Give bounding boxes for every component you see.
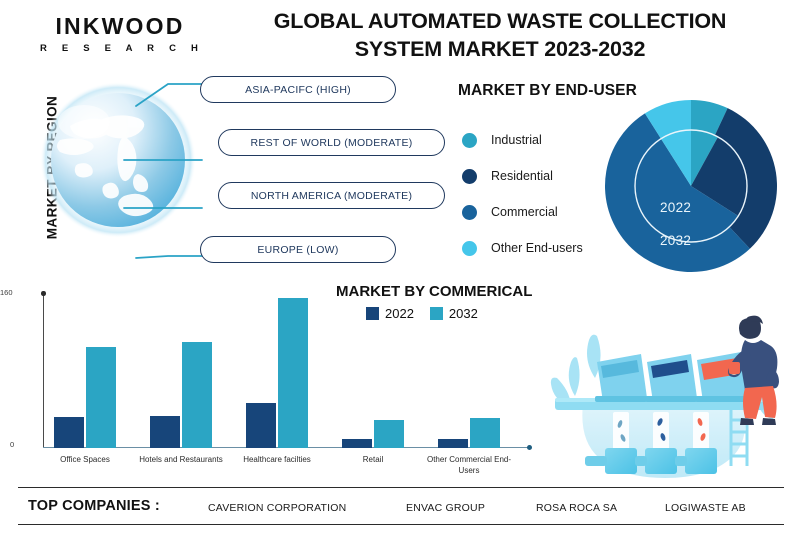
- bar-2022[interactable]: [438, 439, 468, 449]
- region-callout-rest-of-world[interactable]: REST OF WORLD (MODERATE): [218, 129, 445, 156]
- bar-2022[interactable]: [342, 439, 372, 448]
- company-name-1[interactable]: ENVAC GROUP: [406, 502, 485, 514]
- y-axis-cap: [41, 291, 46, 296]
- brand-logo: INKWOOD R E S E A R C H: [30, 14, 210, 54]
- logo-tagline: R E S E A R C H: [34, 43, 210, 54]
- company-name-2[interactable]: ROSA ROCA SA: [536, 502, 617, 514]
- x-axis-label-1: Hotels and Restaurants: [133, 455, 229, 466]
- bar-2022[interactable]: [150, 416, 180, 448]
- bar-2022[interactable]: [246, 403, 276, 448]
- page-title-line1: GLOBAL AUTOMATED WASTE COLLECTION: [215, 8, 785, 36]
- logo-wordmark: INKWOOD: [30, 14, 210, 38]
- bar-group: [246, 298, 308, 448]
- legend-label-commercial: Commercial: [491, 205, 558, 219]
- waste-collection-illustration: [535, 300, 790, 480]
- page-title: GLOBAL AUTOMATED WASTE COLLECTION SYSTEM…: [215, 8, 785, 63]
- page-title-line2: SYSTEM MARKET 2023-2032: [215, 36, 785, 64]
- y-axis-tick-min: 0: [10, 440, 14, 449]
- bar-2032[interactable]: [182, 342, 212, 448]
- bar-2032[interactable]: [470, 418, 500, 448]
- bar-group: [54, 347, 116, 448]
- x-axis-cap: [527, 445, 532, 450]
- y-axis-tick-max: 160: [0, 288, 13, 297]
- legend-item-residential[interactable]: Residential: [462, 158, 583, 194]
- legend-item-commercial[interactable]: Commercial: [462, 194, 583, 230]
- bar-group: [150, 342, 212, 448]
- legend-dot-icon-residential: [462, 169, 477, 184]
- region-callout-list: ASIA-PACIFC (HIGH) REST OF WORLD (MODERA…: [200, 76, 445, 263]
- enduser-section-title: MARKET BY END-USER: [458, 82, 637, 100]
- enduser-donut-chart[interactable]: 2022 2032: [605, 100, 785, 272]
- legend-label-industrial: Industrial: [491, 133, 542, 147]
- bar-group: [438, 418, 500, 448]
- region-callout-north-america[interactable]: NORTH AMERICA (MODERATE): [218, 182, 445, 209]
- legend-dot-icon-commercial: [462, 205, 477, 220]
- footer-divider-top: [18, 487, 784, 488]
- bar-2032[interactable]: [374, 420, 404, 449]
- x-axis-label-2: Healthcare facilties: [229, 455, 325, 466]
- bar-chart-plot-area: [44, 296, 524, 448]
- bar-2022[interactable]: [54, 417, 84, 448]
- x-axis-label-3: Retail: [325, 455, 421, 466]
- legend-item-other-end-users[interactable]: Other End-users: [462, 230, 583, 266]
- company-name-3[interactable]: LOGIWASTE AB: [665, 502, 746, 514]
- bar-group: [342, 420, 404, 449]
- legend-label-other-end-users: Other End-users: [491, 241, 583, 255]
- legend-label-residential: Residential: [491, 169, 553, 183]
- bar-2032[interactable]: [278, 298, 308, 448]
- top-companies-label: TOP COMPANIES :: [28, 498, 160, 514]
- legend-item-industrial[interactable]: Industrial: [462, 122, 583, 158]
- bar-2032[interactable]: [86, 347, 116, 448]
- legend-dot-icon-industrial: [462, 133, 477, 148]
- x-axis-label-0: Office Spaces: [37, 455, 133, 466]
- legend-dot-icon-other-end-users: [462, 241, 477, 256]
- x-axis-label-4: Other Commercial End-Users: [421, 455, 517, 476]
- company-name-0[interactable]: CAVERION CORPORATION: [208, 502, 346, 514]
- enduser-legend: Industrial Residential Commercial Other …: [462, 122, 583, 266]
- region-callout-asia-pacific[interactable]: ASIA-PACIFC (HIGH): [200, 76, 396, 103]
- footer-divider-bottom: [18, 524, 784, 525]
- region-callout-europe[interactable]: EUROPE (LOW): [200, 236, 396, 263]
- infographic-page: INKWOOD R E S E A R C H GLOBAL AUTOMATED…: [0, 0, 800, 533]
